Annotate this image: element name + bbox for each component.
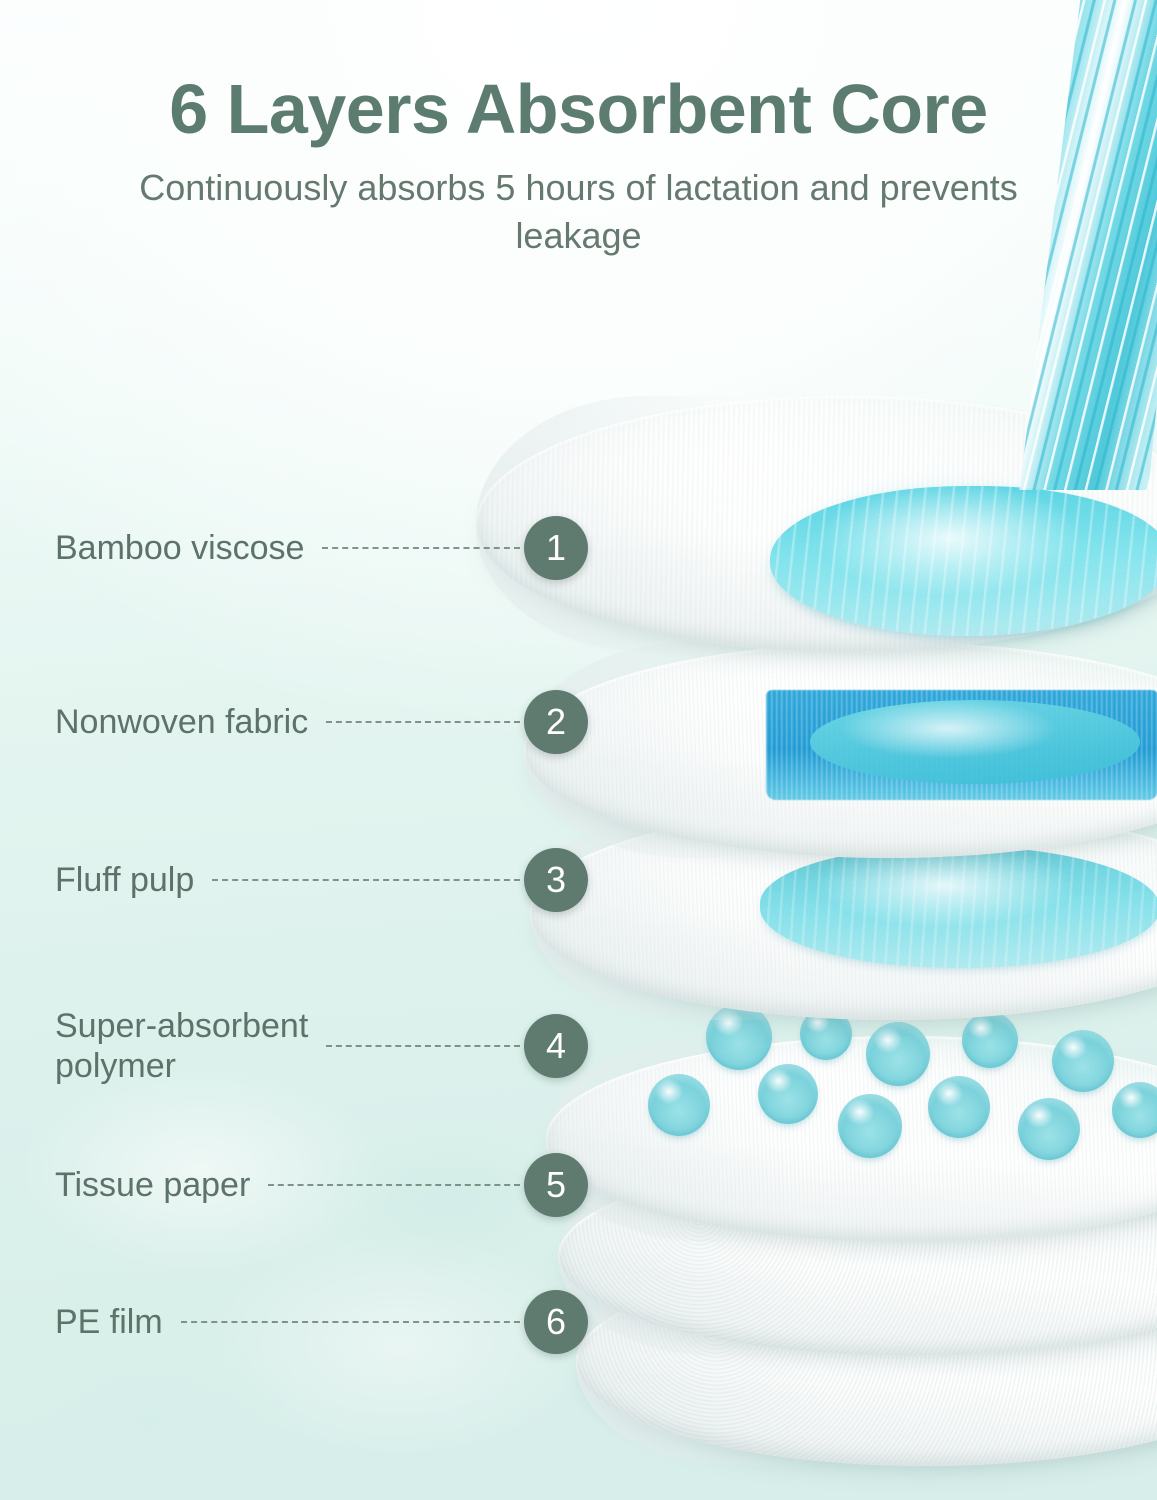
callout-row-2: Nonwoven fabric 2 xyxy=(55,690,588,754)
leader-line-6 xyxy=(181,1321,520,1323)
callout-row-1: Bamboo viscose 1 xyxy=(55,516,588,580)
layer-label-2: Nonwoven fabric xyxy=(55,702,308,742)
layer-badge-4: 4 xyxy=(524,1014,588,1078)
callout-row-3: Fluff pulp 3 xyxy=(55,848,588,912)
leader-line-3 xyxy=(212,879,520,881)
layer-label-3: Fluff pulp xyxy=(55,860,194,900)
layer-label-1: Bamboo viscose xyxy=(55,528,304,568)
layer-badge-5: 5 xyxy=(524,1153,588,1217)
callout-row-5: Tissue paper 5 xyxy=(55,1153,588,1217)
infographic-page: 6 Layers Absorbent Core Continuously abs… xyxy=(0,0,1157,1500)
layer-badge-6: 6 xyxy=(524,1290,588,1354)
leader-line-2 xyxy=(326,721,520,723)
layer-label-4: Super-absorbent polymer xyxy=(55,1006,308,1086)
layer-badge-2: 2 xyxy=(524,690,588,754)
layer-badge-1: 1 xyxy=(524,516,588,580)
callout-row-6: PE film 6 xyxy=(55,1290,588,1354)
layer-badge-3: 3 xyxy=(524,848,588,912)
layer-label-5: Tissue paper xyxy=(55,1165,250,1205)
callout-row-4: Super-absorbent polymer 4 xyxy=(55,1006,588,1086)
leader-line-5 xyxy=(268,1184,520,1186)
leader-line-4 xyxy=(326,1045,520,1047)
layer-callouts: Bamboo viscose 1 Nonwoven fabric 2 Fluff… xyxy=(0,0,1157,1500)
leader-line-1 xyxy=(322,547,520,549)
layer-label-6: PE film xyxy=(55,1302,163,1342)
